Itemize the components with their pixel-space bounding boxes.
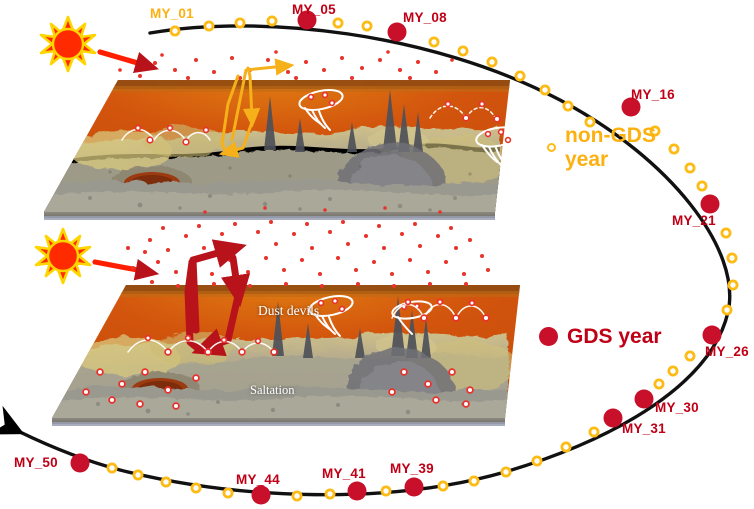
orbit-marker-non-gds[interactable] [162, 478, 170, 486]
orbit-label-my_05: MY_05 [292, 2, 336, 17]
orbit-marker-non-gds[interactable] [590, 428, 598, 436]
orbit-marker-non-gds[interactable] [488, 58, 496, 66]
dust-particles-lower [126, 206, 490, 288]
orbit-marker-non-gds[interactable] [459, 47, 467, 55]
orbit-marker-non-gds[interactable] [698, 182, 706, 190]
orbit-marker-gds-my_39[interactable] [405, 478, 424, 497]
legend-non-gds-year: non-GDS year [547, 124, 656, 171]
orbit-marker-gds-my_08[interactable] [388, 23, 407, 42]
orbit-marker-non-gds[interactable] [722, 229, 730, 237]
sun-icon-lower [36, 229, 148, 283]
legend-non-gds-label: non-GDS year [565, 124, 656, 171]
orbit-marker-non-gds[interactable] [516, 72, 524, 80]
orbit-marker-non-gds[interactable] [430, 38, 438, 46]
orbit-marker-non-gds[interactable] [669, 367, 677, 375]
orbit-label-my_44: MY_44 [236, 472, 280, 487]
circulation-loop-lower [188, 249, 238, 350]
orbit-marker-non-gds[interactable] [439, 482, 447, 490]
orbit-marker-non-gds[interactable] [334, 19, 342, 27]
mars-dust-cycle-figure: MY_01MY_05MY_08MY_16MY_21MY_26MY_30MY_31… [0, 0, 754, 509]
orbit-marker-non-gds[interactable] [723, 306, 731, 314]
orbit-label-my_08: MY_08 [403, 10, 447, 25]
orbit-marker-non-gds[interactable] [502, 468, 510, 476]
orbit-marker-non-gds[interactable] [363, 22, 371, 30]
orbit-marker-gds-my_26[interactable] [703, 326, 722, 345]
orbit-marker-gds-my_41[interactable] [348, 482, 367, 501]
orbit-marker-non-gds[interactable] [670, 145, 678, 153]
orbit-marker-non-gds[interactable] [728, 254, 736, 262]
orbit-marker-gds-my_31[interactable] [604, 409, 623, 428]
orbit-marker-non-gds[interactable] [470, 477, 478, 485]
orbit-label-my_31: MY_31 [622, 421, 666, 436]
orbit-marker-non-gds[interactable] [729, 281, 737, 289]
orbit-label-my_39: MY_39 [390, 461, 434, 476]
orbit-label-my_21: MY_21 [672, 213, 716, 228]
orbit-marker-non-gds[interactable] [293, 492, 301, 500]
solar-ray-upper [100, 52, 148, 66]
sun-icon-upper [41, 17, 148, 71]
orbit-marker-non-gds[interactable] [686, 352, 694, 360]
legend-gds-year: GDS year [539, 325, 662, 349]
orbit-label-my_41: MY_41 [322, 466, 366, 481]
dust-devils-label: Dust devils [258, 303, 319, 319]
orbit-marker-non-gds[interactable] [224, 489, 232, 497]
orbit-marker-gds-my_44[interactable] [252, 486, 271, 505]
circulation-loop-upper [222, 66, 285, 152]
orbit-marker-non-gds[interactable] [236, 19, 244, 27]
orbit-marker-gds-my_21[interactable] [701, 195, 720, 214]
orbit-marker-gds-my_30[interactable] [635, 390, 654, 409]
orbit-label-my_30: MY_30 [655, 400, 699, 415]
orbit-marker-non-gds[interactable] [686, 164, 694, 172]
open-circle-icon [547, 143, 556, 152]
orbit-marker-non-gds[interactable] [564, 102, 572, 110]
orbit-marker-non-gds[interactable] [268, 17, 276, 25]
orbit-label-my_50: MY_50 [14, 455, 58, 470]
orbit-marker-non-gds[interactable] [134, 471, 142, 479]
orbit-marker-non-gds[interactable] [533, 457, 541, 465]
orbit-marker-non-gds[interactable] [192, 484, 200, 492]
orbit-label-my_16: MY_16 [631, 87, 675, 102]
orbit-marker-non-gds[interactable] [562, 443, 570, 451]
orbit-marker-non-gds[interactable] [326, 490, 334, 498]
orbit-marker-gds-my_50[interactable] [71, 454, 90, 473]
legend-gds-label: GDS year [567, 325, 662, 349]
orbit-label-my_01: MY_01 [150, 6, 194, 21]
filled-circle-icon [539, 327, 558, 346]
orbit-marker-non-gds[interactable] [171, 27, 179, 35]
dust-devil-vortex-icons-upper [122, 87, 519, 166]
orbit-marker-non-gds[interactable] [541, 86, 549, 94]
saltation-label: Saltation [250, 383, 294, 398]
orbit-marker-non-gds[interactable] [205, 22, 213, 30]
orbit-label-my_26: MY_26 [705, 344, 749, 359]
solar-ray-lower [95, 262, 148, 272]
orbit-marker-non-gds[interactable] [108, 464, 116, 472]
orbit-marker-non-gds[interactable] [655, 380, 663, 388]
orbit-marker-non-gds[interactable] [382, 487, 390, 495]
